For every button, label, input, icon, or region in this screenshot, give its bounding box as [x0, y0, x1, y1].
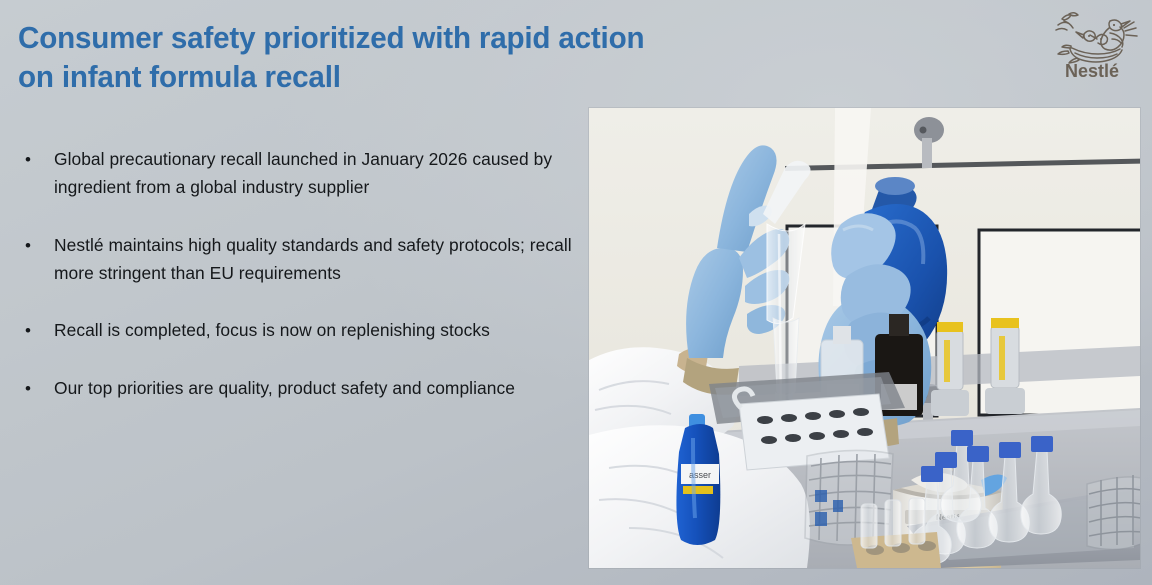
list-item: • Global precautionary recall launched i… — [18, 146, 573, 202]
list-item-text: Nestlé maintains high quality standards … — [54, 232, 573, 288]
nestle-wordmark: Nestlé — [1065, 61, 1119, 81]
lab-photo: asser — [589, 108, 1140, 568]
bullet-marker-icon: • — [25, 146, 31, 173]
bullet-marker-icon: • — [25, 375, 31, 402]
bullet-marker-icon: • — [25, 232, 31, 259]
list-item: • Our top priorities are quality, produc… — [18, 375, 573, 403]
nest-with-birds-icon: Nestlé — [1044, 8, 1140, 82]
slide: Consumer safety prioritized with rapid a… — [0, 0, 1152, 585]
nestle-logo: Nestlé — [1044, 8, 1140, 82]
list-item: • Nestlé maintains high quality standard… — [18, 232, 573, 288]
bullet-marker-icon: • — [25, 317, 31, 344]
bullet-list: • Global precautionary recall launched i… — [18, 146, 573, 403]
list-item-text: Global precautionary recall launched in … — [54, 146, 573, 202]
page-title: Consumer safety prioritized with rapid a… — [18, 18, 744, 97]
list-item-text: Our top priorities are quality, product … — [54, 375, 573, 403]
list-item: • Recall is completed, focus is now on r… — [18, 317, 573, 345]
list-item-text: Recall is completed, focus is now on rep… — [54, 317, 573, 345]
